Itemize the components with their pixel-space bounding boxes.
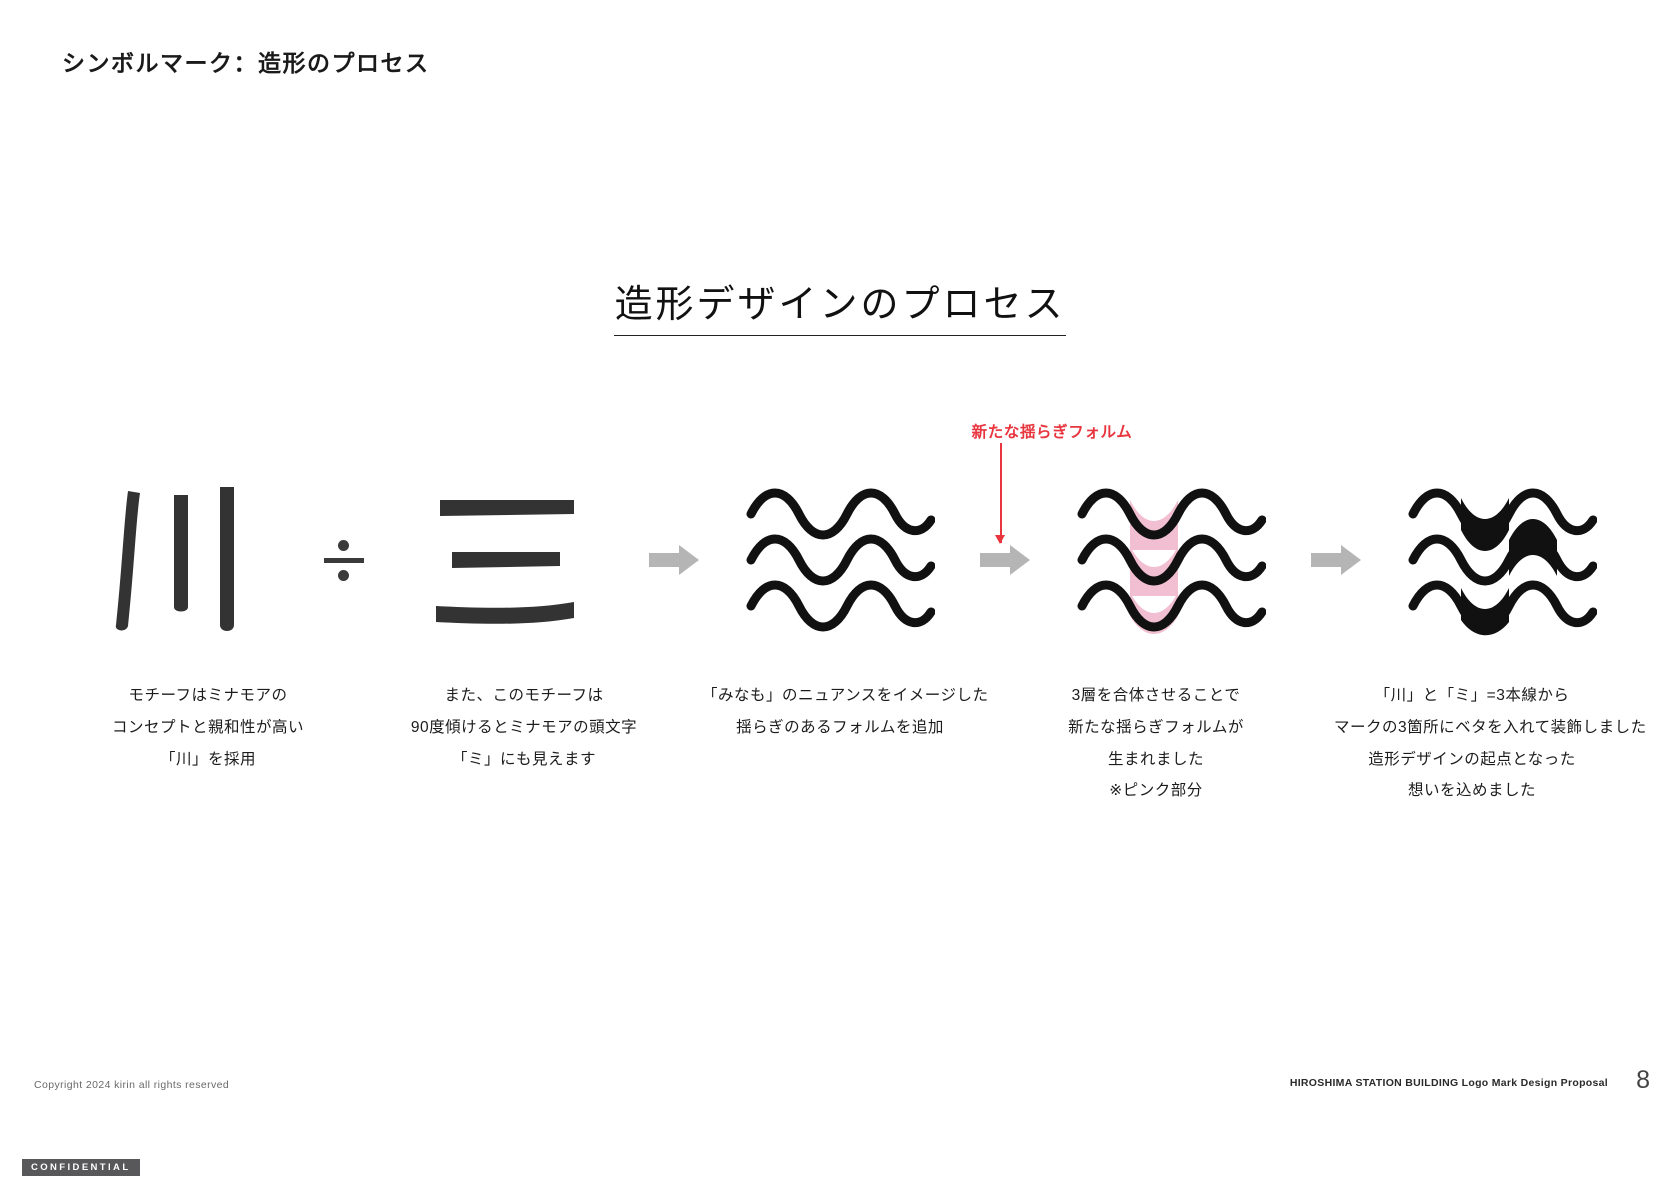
confidential-badge: CONFIDENTIAL [22,1159,140,1176]
stage-wave-merged-pink [1063,455,1279,665]
caption-line: また、このモチーフは [386,680,662,712]
caption-stage-4: 3層を合体させることで 新たな揺らぎフォルムが 生まれました ※ピンク部分 [1018,680,1294,807]
caption-stage-3: 「みなも」のニュアンスをイメージした 揺らぎのあるフォルムを追加 [702,680,978,744]
connector-arrow-3 [1307,543,1367,577]
caption-row: モチーフはミナモアの コンセプトと親和性が高い 「川」を採用 また、このモチーフ… [70,680,1610,807]
caption-line: 新たな揺らぎフォルムが [1018,712,1294,744]
caption-line: 「川」と「ミ」=3本線から [1334,680,1610,712]
caption-line: 3層を合体させることで [1018,680,1294,712]
approx-equal-bar [324,558,364,563]
caption-line: コンセプトと親和性が高い [70,712,346,744]
footer-copyright: Copyright 2024 kirin all rights reserved [34,1079,229,1091]
final-logo-mark-icon [1407,480,1597,640]
slide-title: シンボルマーク：造形のプロセス [62,44,430,78]
caption-line: 揺らぎのあるフォルムを追加 [702,712,978,744]
caption-line: 想いを込めました [1334,775,1610,807]
three-wave-layers-icon [745,480,935,640]
connector-arrow-1 [645,543,705,577]
main-heading-container: 造形デザインのプロセス [0,283,1680,336]
footer-proposal-title: HIROSHIMA STATION BUILDING Logo Mark Des… [1290,1077,1608,1089]
main-heading: 造形デザインのプロセス [614,283,1065,336]
stage-kawa-kanji [70,455,286,665]
merged-wave-pink-icon [1076,480,1266,640]
caption-line: 生まれました [1018,744,1294,776]
caption-stage-1: モチーフはミナモアの コンセプトと親和性が高い 「川」を採用 [70,680,346,775]
caption-line: 「川」を採用 [70,744,346,776]
approx-equal-icon [321,540,367,581]
caption-stage-2: また、このモチーフは 90度傾けるとミナモアの頭文字 「ミ」にも見えます [386,680,662,775]
caption-line: 「ミ」にも見えます [386,744,662,776]
arrow-right-icon [649,543,701,577]
stage-mi-katakana [401,455,617,665]
caption-line: 造形デザインの起点となった [1334,744,1610,776]
stage-wave-three-layer [732,455,948,665]
caption-line: マークの3箇所にベタを入れて装飾しました [1334,712,1610,744]
caption-stage-5: 「川」と「ミ」=3本線から マークの3箇所にベタを入れて装飾しました 造形デザイ… [1334,680,1610,807]
approx-equal-dot-top [338,540,349,551]
arrow-right-icon [1311,543,1363,577]
new-form-annotation: 新たな揺らぎフォルム [942,420,1162,442]
arrow-right-icon [980,543,1032,577]
connector-arrow-2 [976,543,1036,577]
caption-line: モチーフはミナモアの [70,680,346,712]
mi-katakana-glyph-icon [434,490,584,630]
caption-line: ※ピンク部分 [1018,775,1294,807]
annotation-label: 新たな揺らぎフォルム [972,424,1133,441]
caption-line: 90度傾けるとミナモアの頭文字 [386,712,662,744]
page-number: 8 [1636,1066,1650,1095]
caption-line: 「みなも」のニュアンスをイメージした [702,680,978,712]
kawa-kanji-glyph-icon [108,485,248,635]
connector-approx-equal [314,540,374,581]
stage-wave-final-mark [1394,455,1610,665]
slide: シンボルマーク：造形のプロセス 造形デザインのプロセス 新たな揺らぎフォルム [0,0,1680,1188]
process-diagram [70,455,1610,665]
approx-equal-dot-bottom [338,570,349,581]
